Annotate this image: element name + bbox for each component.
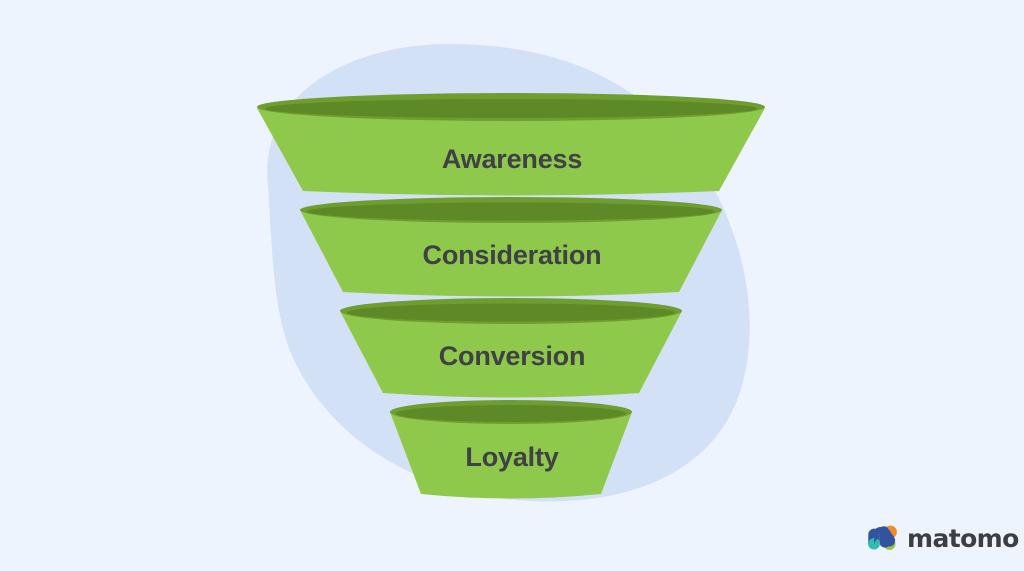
funnel-canvas: Awareness Consideration Conversion Loyal… [0, 0, 1024, 571]
funnel-stage-conversion-rim-inner [347, 304, 675, 322]
matomo-logo: matomo [868, 518, 1019, 558]
funnel-stage-consideration-rim-inner [307, 203, 715, 221]
matomo-mark-icon [868, 525, 900, 551]
funnel-stage-loyalty-rim-inner [396, 405, 626, 422]
funnel-label-consideration: Consideration [0, 242, 1024, 269]
funnel-stage-awareness-rim-inner [265, 99, 757, 118]
matomo-wordmark: matomo [907, 526, 1019, 551]
funnel-label-loyalty: Loyalty [0, 444, 1024, 471]
funnel-chart [0, 0, 1024, 571]
funnel-label-awareness: Awareness [0, 146, 1024, 173]
funnel-label-conversion: Conversion [0, 343, 1024, 370]
